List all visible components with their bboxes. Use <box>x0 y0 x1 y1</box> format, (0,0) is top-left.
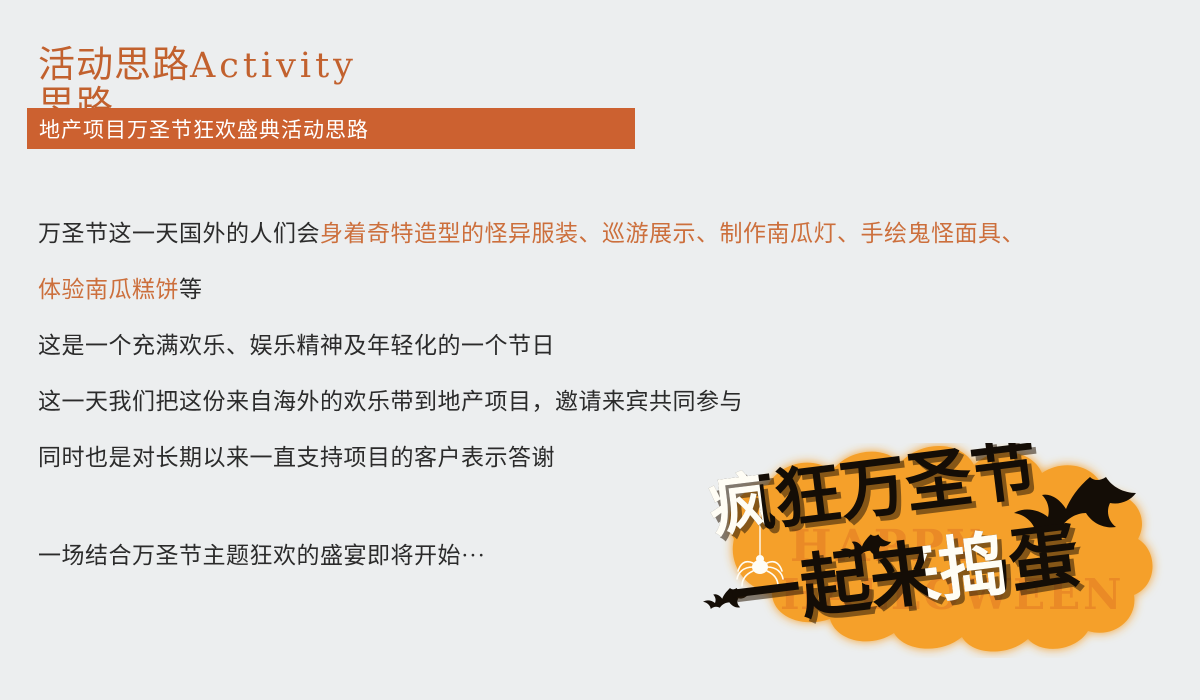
paragraph-2: 体验南瓜糕饼等 <box>38 262 1168 318</box>
page-title-cn: 活动思路 <box>38 45 190 86</box>
page-title-en: Activity <box>190 46 357 86</box>
slide-canvas: 活动思路Activity 思路 地产项目万圣节狂欢盛典活动思路 万圣节这一天国外… <box>0 0 1200 700</box>
paragraph-3: 这是一个充满欢乐、娱乐精神及年轻化的一个节日 <box>38 318 1168 374</box>
subtitle-bar: 地产项目万圣节狂欢盛典活动思路 <box>27 108 635 149</box>
halloween-wordart: HAPPY HALLOWEEN <box>672 443 1192 658</box>
paragraph-2-segment-2: 等 <box>179 277 203 302</box>
subtitle-bar-label: 地产项目万圣节狂欢盛典活动思路 <box>39 114 369 144</box>
paragraph-2-segment-1: 体验南瓜糕饼 <box>38 277 179 302</box>
page-title: 活动思路Activity <box>38 44 738 88</box>
paragraph-1: 万圣节这一天国外的人们会身着奇特造型的怪异服装、巡游展示、制作南瓜灯、手绘鬼怪面… <box>38 206 1168 262</box>
paragraph-1-segment-1: 万圣节这一天国外的人们会 <box>38 221 320 246</box>
paragraph-4: 这一天我们把这份来自海外的欢乐带到地产项目，邀请来宾共同参与 <box>38 374 1168 430</box>
paragraph-1-segment-2: 身着奇特造型的怪异服装、巡游展示、制作南瓜灯、手绘鬼怪面具、 <box>320 221 1025 246</box>
